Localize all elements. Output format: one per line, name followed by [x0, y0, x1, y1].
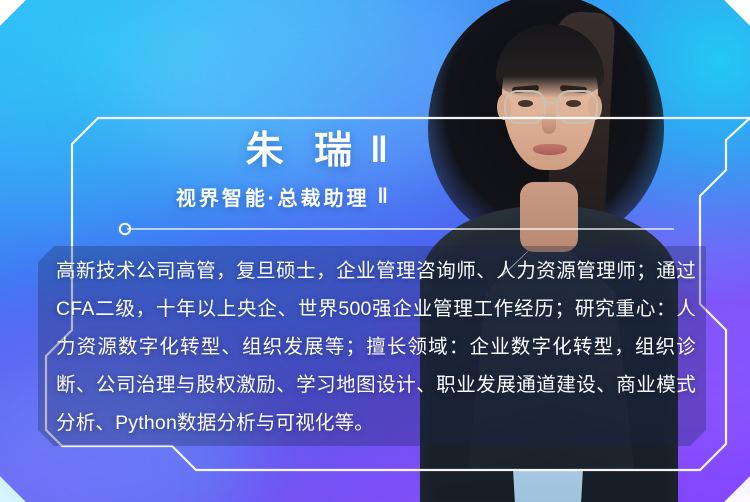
person-role: 视界智能·总裁助理 — [173, 182, 370, 211]
profile-card: 朱 瑞 ‖ 视界智能·总裁助理 ‖ 高新技术公司高管，复旦硕士，企业管理咨询师、… — [0, 0, 750, 502]
bio-paragraph: 高新技术公司高管，复旦硕士，企业管理咨询师、人力资源管理师；通过CFA二级，十年… — [56, 252, 696, 442]
role-bars-icon: ‖ — [378, 186, 388, 207]
person-name: 朱 瑞 — [236, 132, 363, 172]
name-bars-icon: ‖ — [370, 132, 388, 168]
identity-block: 朱 瑞 ‖ 视界智能·总裁助理 ‖ — [173, 132, 388, 211]
role-row: 视界智能·总裁助理 ‖ — [173, 182, 388, 211]
name-row: 朱 瑞 ‖ — [173, 132, 388, 172]
